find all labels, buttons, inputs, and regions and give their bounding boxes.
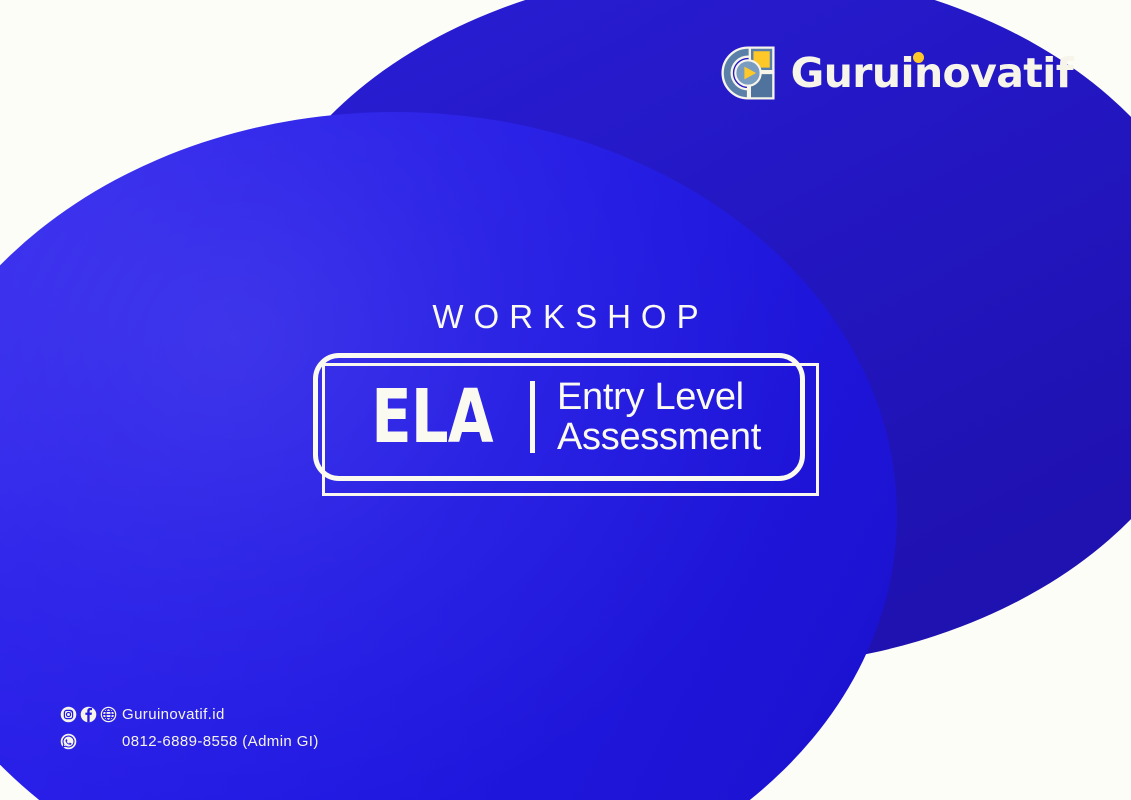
title-block: WORKSHOP ELA Entry Level Assessment bbox=[0, 300, 1131, 496]
subtitle-line-2: Assessment bbox=[557, 417, 761, 457]
brand-logo: Guruinovatif bbox=[719, 44, 1073, 102]
title-frame: ELA Entry Level Assessment bbox=[313, 353, 819, 496]
gurunovatif-play-circle-icon bbox=[719, 44, 777, 102]
vertical-divider bbox=[530, 381, 535, 453]
brand-name: Guruinovatif bbox=[791, 53, 1073, 94]
whatsapp-icon[interactable] bbox=[60, 733, 77, 750]
instagram-icon[interactable] bbox=[60, 706, 77, 723]
contact-row-phone: 0812-6889-8558 (Admin GI) bbox=[60, 729, 319, 753]
contact-footer: Guruinovatif.id 0812-6889-8558 (Admin GI… bbox=[60, 702, 319, 756]
eyebrow-label: WORKSHOP bbox=[422, 300, 708, 333]
acronym-label: ELA bbox=[371, 384, 493, 451]
social-icon-group bbox=[60, 706, 122, 723]
globe-icon[interactable] bbox=[100, 706, 117, 723]
contact-handle[interactable]: Guruinovatif.id bbox=[122, 706, 225, 723]
brand-name-text: Guruinovatif bbox=[791, 49, 1073, 97]
subtitle-label: Entry Level Assessment bbox=[557, 377, 761, 458]
subtitle-line-1: Entry Level bbox=[557, 377, 761, 417]
brand-accent-dot-icon bbox=[913, 52, 924, 63]
contact-phone[interactable]: 0812-6889-8558 (Admin GI) bbox=[122, 733, 319, 750]
poster-canvas: Guruinovatif WORKSHOP ELA Entry Level As… bbox=[0, 0, 1131, 800]
facebook-icon[interactable] bbox=[80, 706, 97, 723]
contact-row-social: Guruinovatif.id bbox=[60, 702, 319, 726]
title-frame-inner-border: ELA Entry Level Assessment bbox=[313, 353, 805, 481]
phone-icon-group bbox=[60, 733, 122, 750]
